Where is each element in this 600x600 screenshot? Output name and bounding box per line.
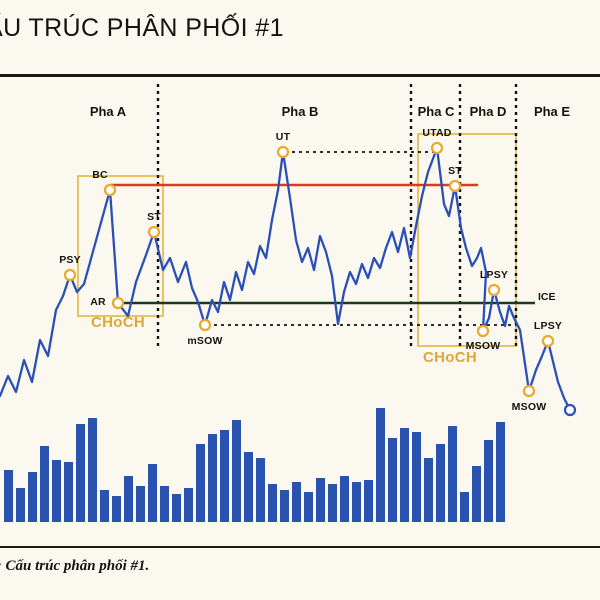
- marker-ar[interactable]: [113, 298, 123, 308]
- volume-bar: [472, 466, 481, 522]
- volume-bar: [316, 478, 325, 522]
- volume-bar: [304, 492, 313, 522]
- marker-msow-1[interactable]: [478, 326, 488, 336]
- volume-bar: [412, 432, 421, 522]
- volume-bar: [376, 408, 385, 522]
- volume-bar: [100, 490, 109, 522]
- volume-bar: [424, 458, 433, 522]
- label-psy: PSY: [59, 254, 81, 266]
- volume-bar: [388, 438, 397, 522]
- marker-psy[interactable]: [65, 270, 75, 280]
- figure-page: ẤU TRÚC PHÂN PHỐI #1 Pha APha BPha CPha …: [0, 0, 600, 600]
- marker-msow[interactable]: [200, 320, 210, 330]
- label-st-1: ST: [147, 211, 161, 223]
- volume-bar: [328, 484, 337, 522]
- volume-bar: [88, 418, 97, 522]
- volume-bar: [64, 462, 73, 522]
- marker-lpsy-2[interactable]: [543, 336, 553, 346]
- label-msow-2: MSOW: [512, 401, 547, 413]
- volume-bar: [208, 434, 217, 522]
- volume-bar: [124, 476, 133, 522]
- volume-bar: [340, 476, 349, 522]
- label-st-2: ST: [448, 165, 462, 177]
- dotted-levels-group: [207, 152, 519, 325]
- volume-bar: [112, 496, 121, 522]
- label-utad: UTAD: [422, 127, 451, 139]
- marker-ut[interactable]: [278, 147, 288, 157]
- label-ar: AR: [90, 296, 106, 308]
- volume-bar: [484, 440, 493, 522]
- phase-label-pha-d: Pha D: [470, 104, 507, 119]
- label-ice: ICE: [538, 291, 556, 303]
- choch-label-1: CHoCH: [91, 314, 145, 331]
- choch-label-2: CHoCH: [423, 349, 477, 366]
- phase-label-pha-b: Pha B: [282, 104, 319, 119]
- volume-bar: [352, 482, 361, 522]
- volume-bar: [496, 422, 505, 522]
- volume-bar: [280, 490, 289, 522]
- marker-st-1[interactable]: [149, 227, 159, 237]
- volume-bar: [172, 494, 181, 522]
- marker-end-point[interactable]: [565, 405, 575, 415]
- marker-bc[interactable]: [105, 185, 115, 195]
- label-lpsy-2: LPSY: [534, 320, 562, 332]
- phase-label-pha-a: Pha A: [90, 104, 126, 119]
- phase-label-pha-c: Pha C: [418, 104, 455, 119]
- top-rule: [0, 74, 600, 77]
- figure-caption: 6.3: Cấu trúc phân phối #1.: [0, 558, 149, 575]
- volume-bar: [136, 486, 145, 522]
- volume-bar: [268, 484, 277, 522]
- page-title: ẤU TRÚC PHÂN PHỐI #1: [0, 14, 284, 43]
- label-lpsy-1: LPSY: [480, 269, 508, 281]
- volume-bar: [40, 446, 49, 522]
- volume-bar: [256, 458, 265, 522]
- marker-st-2[interactable]: [450, 181, 460, 191]
- volume-bars-group: [4, 408, 505, 522]
- distribution-chart: Pha APha BPha CPha DPha EPSYBCSTARmSOWUT…: [0, 78, 600, 538]
- volume-bar: [448, 426, 457, 522]
- volume-bar: [28, 472, 37, 522]
- label-ut: UT: [276, 131, 290, 143]
- volume-bar: [400, 428, 409, 522]
- volume-bar: [436, 444, 445, 522]
- volume-bar: [160, 486, 169, 522]
- volume-bar: [364, 480, 373, 522]
- volume-bar: [196, 444, 205, 522]
- volume-bar: [232, 420, 241, 522]
- volume-bar: [220, 430, 229, 522]
- volume-bar: [4, 470, 13, 522]
- chart-svg: [0, 78, 600, 538]
- label-bc: BC: [92, 169, 108, 181]
- phase-label-pha-e: Pha E: [534, 104, 570, 119]
- volume-bar: [184, 488, 193, 522]
- bottom-rule: [0, 546, 600, 548]
- marker-utad[interactable]: [432, 143, 442, 153]
- volume-bar: [292, 482, 301, 522]
- volume-bar: [76, 424, 85, 522]
- label-msow: mSOW: [187, 335, 222, 347]
- marker-lpsy-1[interactable]: [489, 285, 499, 295]
- marker-msow-2[interactable]: [524, 386, 534, 396]
- volume-bar: [16, 488, 25, 522]
- volume-bar: [52, 460, 61, 522]
- volume-bar: [148, 464, 157, 522]
- volume-bar: [460, 492, 469, 522]
- volume-bar: [244, 452, 253, 522]
